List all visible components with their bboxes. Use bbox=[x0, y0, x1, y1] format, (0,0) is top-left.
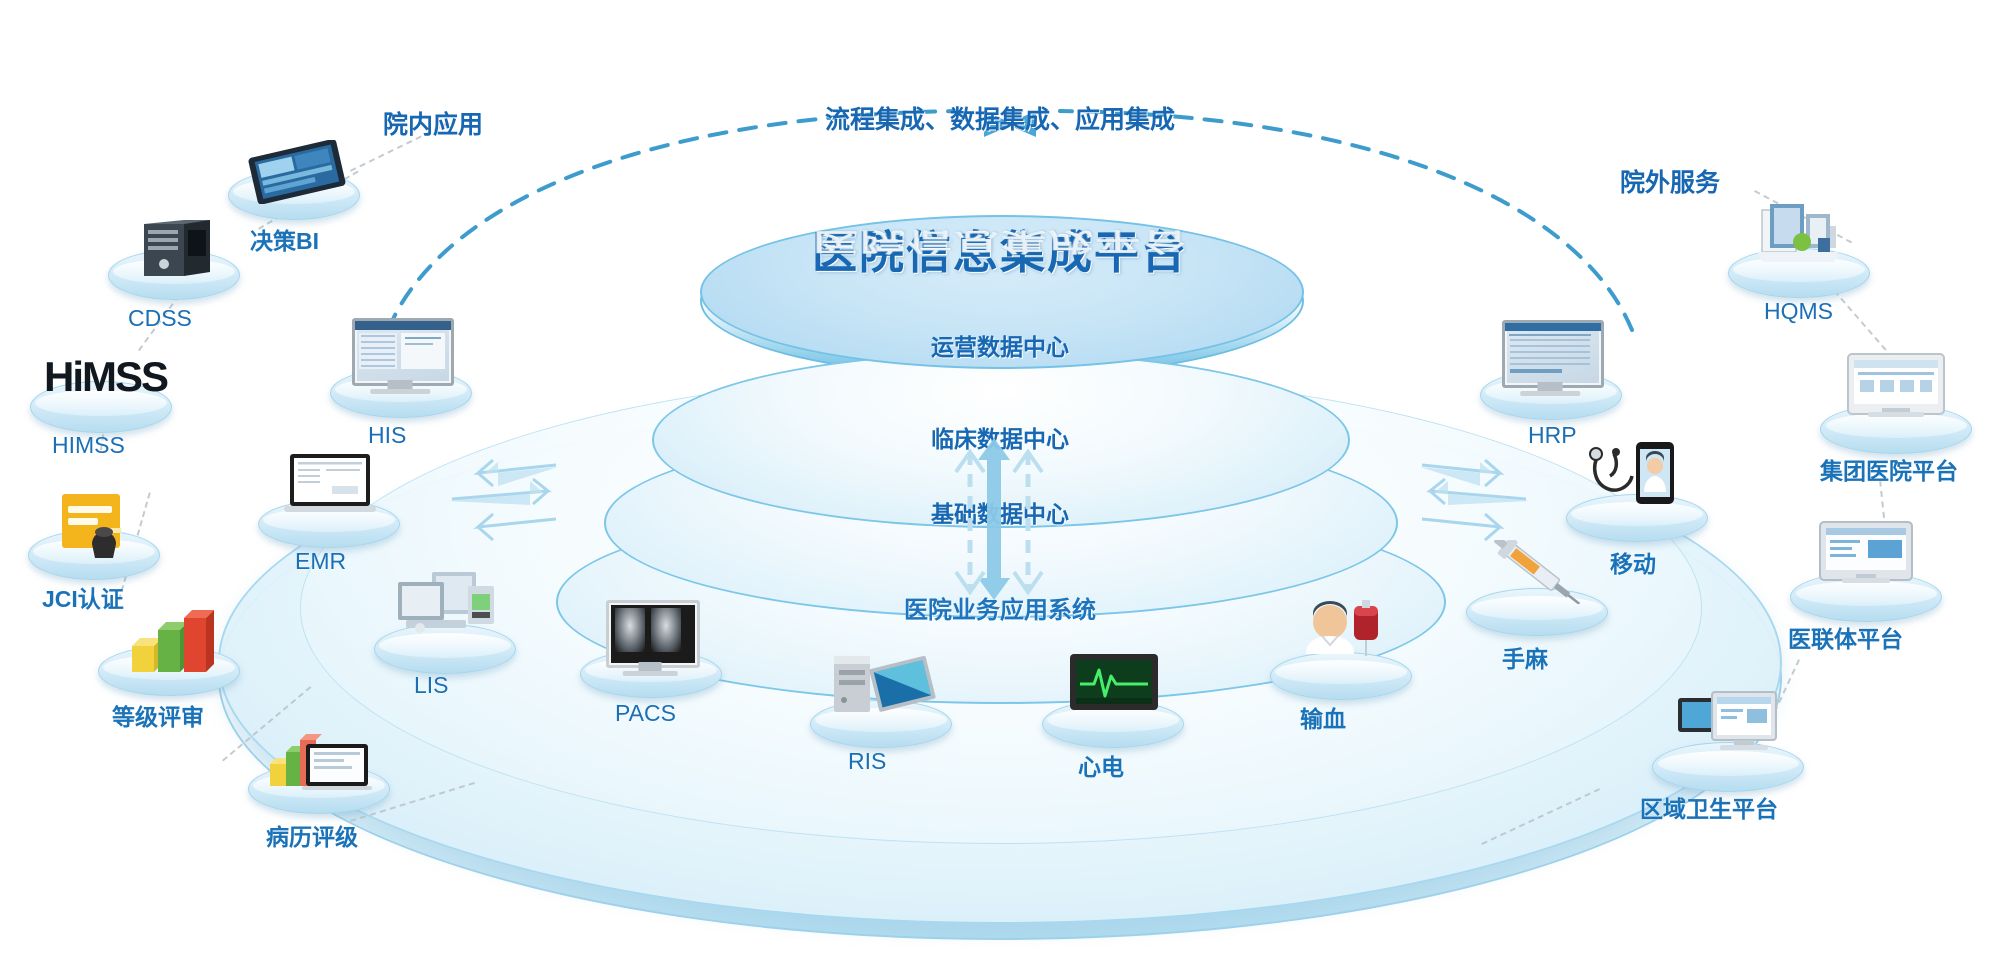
label-regional-health: 区域卫生平台 bbox=[1640, 790, 1778, 824]
label-emr: EMR bbox=[295, 548, 346, 575]
bar-chart-3d-icon bbox=[114, 600, 226, 682]
label-medical-alliance: 医联体平台 bbox=[1788, 620, 1903, 654]
syringe-icon bbox=[1484, 540, 1590, 604]
server-rack-icon bbox=[130, 218, 226, 284]
ecg-monitor-icon bbox=[1066, 650, 1162, 716]
diagram-canvas: 医院信息集成平台 医院信息集成平台 运营数据中心 临床数据中心 基础数据中心 医… bbox=[0, 0, 2000, 955]
node-lis[interactable] bbox=[374, 570, 514, 670]
desktop-monitor-icon bbox=[1502, 320, 1598, 382]
monitor-foot bbox=[1520, 391, 1580, 396]
desktop-monitor-icon bbox=[352, 318, 448, 380]
label-cdss: CDSS bbox=[128, 305, 192, 332]
node-anesthesia[interactable] bbox=[1466, 540, 1606, 636]
platform-title: 医院信息集成平台 bbox=[812, 227, 1188, 278]
node-hqms[interactable] bbox=[1728, 200, 1868, 296]
label-anesthesia: 手麻 bbox=[1502, 640, 1548, 674]
crt-monitor-icon bbox=[1842, 352, 1952, 422]
node-record-rating[interactable] bbox=[248, 718, 388, 810]
xray-monitor-icon bbox=[606, 600, 694, 662]
label-ris: RIS bbox=[848, 748, 886, 775]
node-medical-alliance[interactable] bbox=[1790, 520, 1940, 620]
label-decision-bi: 决策BI bbox=[250, 222, 319, 256]
node-hrp[interactable] bbox=[1480, 320, 1620, 416]
office-folders-icon bbox=[1744, 200, 1854, 270]
laptop-icon bbox=[280, 452, 380, 518]
layer-label-odc: 运营数据中心 bbox=[0, 328, 2000, 362]
node-ecg[interactable] bbox=[1042, 650, 1182, 746]
node-regional-health[interactable] bbox=[1652, 690, 1802, 790]
section-title-external: 院外服务 bbox=[1620, 163, 1720, 199]
label-hqms: HQMS bbox=[1764, 298, 1833, 325]
lab-analyzer-icon bbox=[392, 570, 502, 644]
right-exchange-arrows bbox=[1410, 455, 1540, 545]
chart-laptop-icon bbox=[262, 718, 378, 798]
label-lis: LIS bbox=[414, 672, 449, 699]
node-decision-bi[interactable] bbox=[228, 140, 358, 218]
node-pacs[interactable] bbox=[580, 600, 720, 696]
label-group-hospital: 集团医院平台 bbox=[1820, 452, 1958, 486]
node-ris[interactable] bbox=[810, 650, 950, 746]
label-pacs: PACS bbox=[615, 700, 676, 727]
node-his[interactable] bbox=[330, 318, 470, 414]
himss-wordmark: HiMSS bbox=[44, 353, 167, 400]
vertical-flow-arrows bbox=[744, 438, 1256, 610]
blood-bag-doctor-icon bbox=[1292, 598, 1392, 670]
monitor-foot bbox=[623, 671, 678, 676]
tower-pc-icon bbox=[826, 650, 938, 720]
monitor-screen bbox=[1502, 320, 1604, 388]
dual-monitor-icon bbox=[1672, 690, 1784, 762]
monitor-screen bbox=[606, 600, 700, 668]
label-record-rating: 病历评级 bbox=[266, 818, 358, 852]
node-cdss[interactable] bbox=[108, 218, 238, 298]
integration-heading: 流程集成、数据集成、应用集成 bbox=[0, 100, 2000, 136]
monitor-network-icon bbox=[1812, 520, 1922, 590]
label-hrp: HRP bbox=[1528, 422, 1577, 449]
himss-logo-icon: HiMSS bbox=[44, 353, 167, 401]
node-jci[interactable] bbox=[28, 490, 158, 578]
monitor-foot bbox=[370, 389, 430, 394]
left-exchange-arrows bbox=[438, 455, 568, 545]
node-mobile[interactable] bbox=[1566, 440, 1706, 540]
label-transfusion: 输血 bbox=[1300, 700, 1346, 734]
label-his: HIS bbox=[368, 422, 406, 449]
label-mobile: 移动 bbox=[1610, 545, 1656, 579]
node-emr[interactable] bbox=[258, 452, 398, 544]
stethoscope-phone-icon bbox=[1582, 440, 1692, 514]
node-group-hospital[interactable] bbox=[1820, 352, 1970, 452]
connector-regional-to-base bbox=[1481, 788, 1600, 845]
node-himss[interactable]: HiMSS bbox=[30, 345, 170, 431]
monitor-screen bbox=[352, 318, 454, 386]
label-jci: JCI认证 bbox=[42, 580, 124, 614]
certificate-seal-icon bbox=[52, 490, 144, 568]
node-transfusion[interactable] bbox=[1270, 598, 1410, 698]
label-himss: HIMSS bbox=[52, 432, 125, 459]
label-grade-review: 等级评审 bbox=[112, 698, 204, 732]
section-title-internal: 院内应用 bbox=[383, 105, 483, 141]
label-ecg: 心电 bbox=[1078, 748, 1124, 782]
tablet-dashboard-icon bbox=[242, 140, 350, 204]
